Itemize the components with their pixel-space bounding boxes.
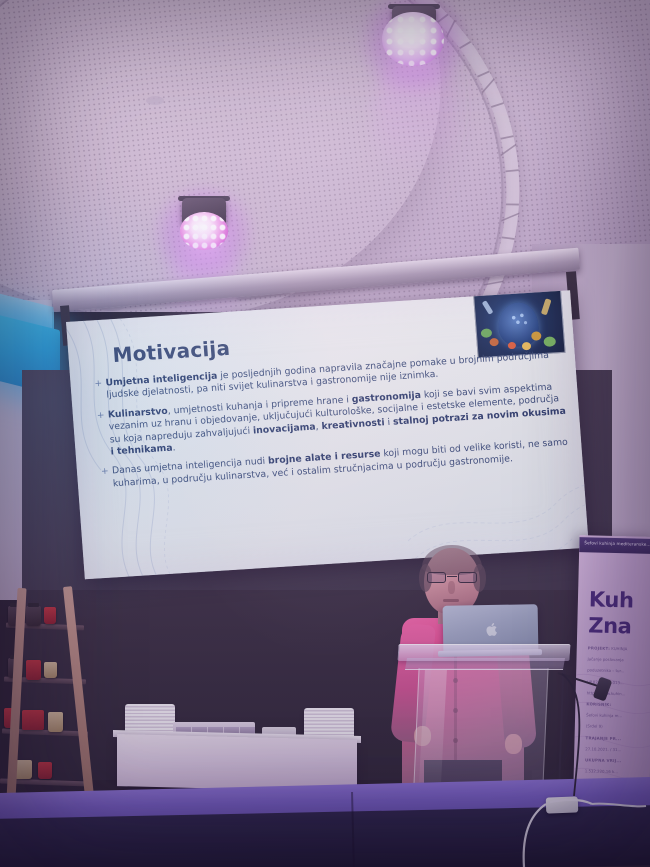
banner-detail-line: PROJEKT: KUHINJA — [588, 645, 650, 653]
truss-diagonal — [501, 143, 517, 156]
thumbnail-food-item — [543, 336, 556, 347]
banner-detail-value: KUHINJA — [611, 646, 627, 651]
banner-headline-line2: Zna — [588, 613, 632, 638]
shelf-product — [26, 660, 41, 680]
par-led-array — [382, 12, 444, 66]
thumbnail-food-item — [531, 331, 542, 341]
draped-buffet-table — [117, 734, 357, 792]
par-lens — [382, 12, 444, 66]
truss-diagonal — [484, 280, 504, 285]
shelf-product — [38, 762, 52, 779]
bullet-emphasis: kreativnosti — [321, 417, 385, 432]
par-light-upper-right — [372, 2, 456, 78]
microphone-icon — [593, 676, 613, 701]
thumbnail-utensil — [482, 300, 494, 315]
truss-spoke — [505, 169, 518, 172]
shelf-product — [44, 607, 56, 624]
bullet-marker-icon: + — [94, 378, 102, 391]
shelf-rail — [63, 586, 94, 798]
lectern-top — [397, 644, 570, 661]
truss-spoke — [506, 203, 519, 205]
thumbnail-utensil — [541, 298, 552, 315]
banner-detail-label: PROJEKT: — [588, 645, 610, 651]
power-adapter — [546, 796, 579, 813]
thumbnail-food-item — [489, 338, 499, 347]
conference-photo-scene: Motivacija +Umjetna inteligencija je pos… — [0, 0, 650, 867]
bullet-marker-icon: + — [97, 410, 105, 423]
banner-header-strip: Šefovi kuhinja mediteranske... — [579, 537, 650, 554]
presenter-mouth — [443, 599, 459, 602]
shelf-product — [48, 712, 63, 732]
presenter-nose — [448, 581, 455, 594]
truss-spoke — [502, 236, 515, 239]
thumbnail-food-item — [481, 328, 493, 338]
truss-diagonal — [501, 212, 519, 221]
projection-screen: Motivacija +Umjetna inteligencija je pos… — [66, 290, 589, 579]
banner-headline-line1: Kuh — [589, 587, 634, 612]
truss-spoke — [500, 135, 513, 139]
bullet-emphasis: inovacijama — [253, 421, 316, 436]
par-lens — [180, 212, 228, 250]
shelf-product — [26, 606, 41, 626]
shelf-product — [44, 662, 57, 678]
ladder-product-shelf — [0, 588, 118, 806]
thumbnail-food-item — [522, 342, 532, 351]
par-led-array — [180, 212, 228, 250]
bullet-marker-icon: + — [101, 466, 109, 479]
truss-diagonal — [482, 78, 495, 94]
par-light-center — [168, 196, 244, 260]
shelf-product — [22, 710, 44, 730]
truss-spoke — [477, 71, 490, 78]
banner-header-text: Šefovi kuhinja mediteranske... — [584, 541, 650, 548]
slide-thumbnail-image — [473, 290, 566, 358]
truss-spoke — [459, 41, 471, 49]
apple-logo-icon — [485, 622, 498, 637]
truss-spoke — [491, 102, 504, 108]
bullet-text: . — [172, 442, 176, 453]
thumbnail-food-item — [508, 342, 516, 349]
acrylic-lectern — [398, 644, 570, 794]
